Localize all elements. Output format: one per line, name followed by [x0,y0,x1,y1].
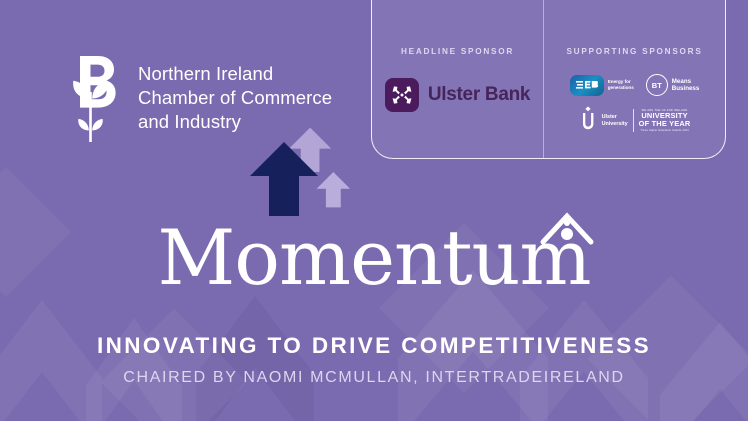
momentum-wordmark-text: Momentum [157,213,590,302]
sponsor-panel: HEADLINE SPONSOR Ulster Bank [371,0,726,159]
esb-logo: Energy for generations [570,75,634,96]
ulster-university-logo: Ulster University WE ARE THE UK AND IREL… [579,105,691,136]
award-title: UNIVERSITY OF THE YEAR [639,112,691,128]
momentum-chevron-dot-icon [539,184,595,256]
supporting-sponsors-heading: SUPPORTING SPONSORS [566,47,702,56]
ulster-bank-name: Ulster Bank [428,84,530,106]
bt-logo-icon: BT [646,74,668,96]
ulster-bank-knot-icon [385,78,419,112]
event-chair-line: CHAIRED BY NAOMI MCMULLAN, INTERTRADEIRE… [0,369,748,387]
ulster-bank-logo: Ulster Bank [385,78,530,112]
university-of-the-year-award: WE ARE THE UK AND IRELAND UNIVERSITY OF … [633,109,691,132]
ulster-university-name: Ulster University [602,114,628,128]
bg-chevron [0,300,102,421]
ulster-university-icon [579,105,597,136]
headline-sponsor-section: HEADLINE SPONSOR Ulster Bank [372,0,543,158]
award-prefix: WE ARE THE UK AND IRELAND [639,109,691,112]
event-tagline: INNOVATING TO DRIVE COMPETITIVENESS [0,333,748,359]
bt-logo: BT Means Business [646,74,700,96]
award-subtitle: Times Higher Education Awards 2024 [639,129,691,132]
bt-tagline: Means Business [672,78,700,93]
supporting-sponsors-section: SUPPORTING SPONSORS [543,0,725,158]
page-title: Momentum [157,222,590,294]
ni-chamber-flax-b-icon [62,52,122,144]
ni-chamber-name: Northern Ireland Chamber of Commerce and… [138,52,332,134]
supporting-sponsors-row: Energy for generations BT Means Business [570,74,700,96]
event-banner: Northern Ireland Chamber of Commerce and… [0,0,748,421]
bg-chevron [520,300,648,421]
momentum-wordmark-block: Momentum [0,222,748,294]
esb-tagline: Energy for generations [608,79,634,90]
bg-diamond [100,308,247,421]
headline-sponsor-heading: HEADLINE SPONSOR [401,47,514,56]
esb-logo-icon [570,75,604,96]
